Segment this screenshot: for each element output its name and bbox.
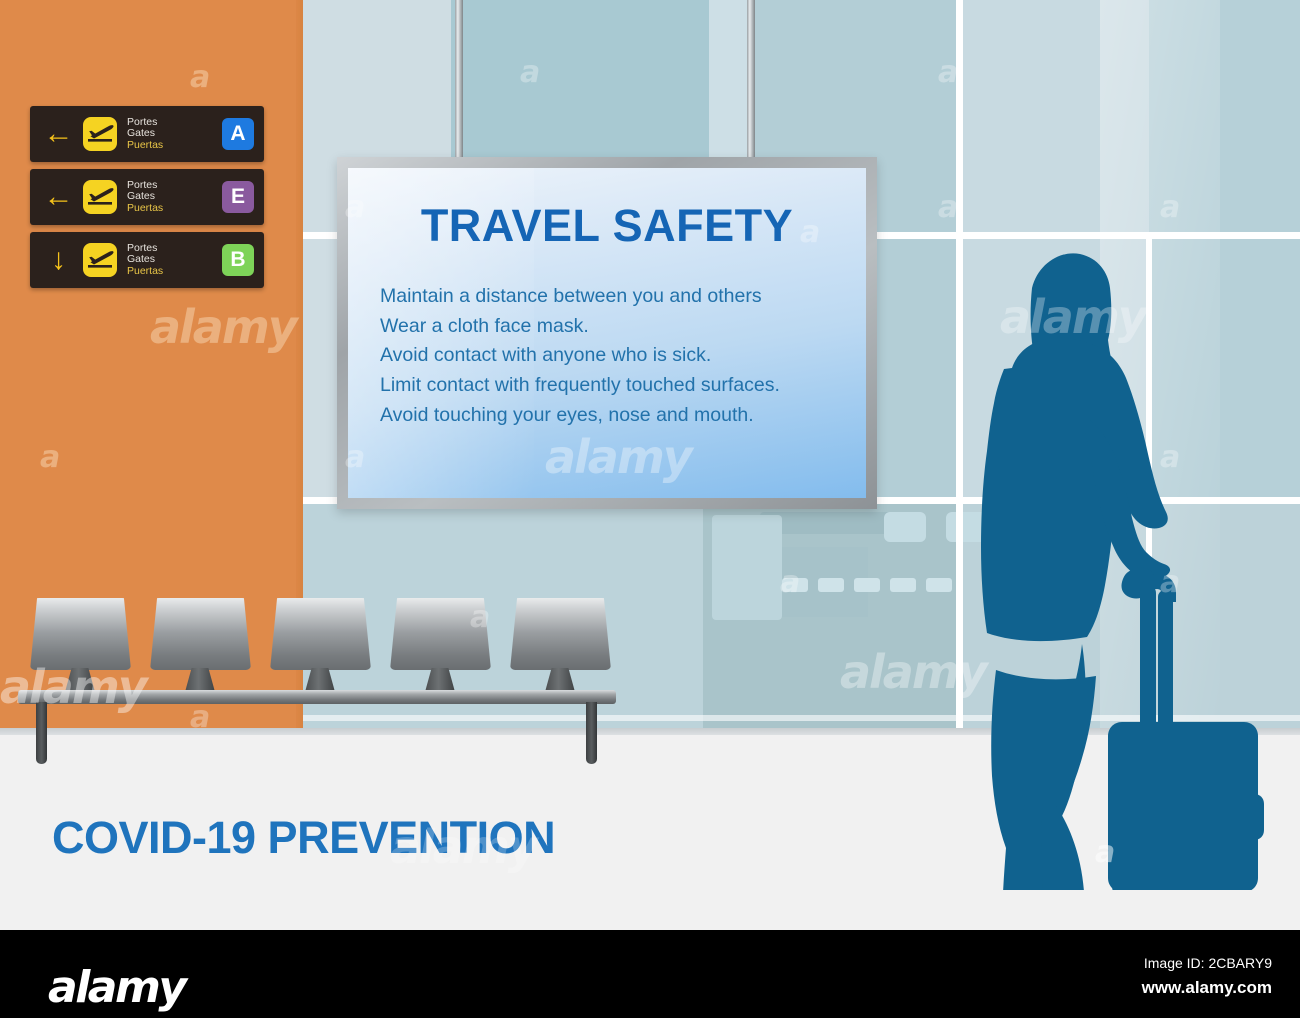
gate-sign-labels: Portes Gates Puertas <box>127 243 222 277</box>
arrow-left-icon: ← <box>36 182 81 212</box>
gate-label-en: Gates <box>127 128 222 139</box>
bench-leg <box>36 702 47 764</box>
gate-label-en: Gates <box>127 254 222 265</box>
aircraft-window-block <box>884 512 926 542</box>
traveler-silhouette <box>940 250 1270 890</box>
illustration-canvas: TRAVEL SAFETY Maintain a distance betwee… <box>0 0 1300 930</box>
sign-guideline: Limit contact with frequently touched su… <box>380 371 866 401</box>
bench-seat-post <box>65 668 95 692</box>
gate-sign-labels: Portes Gates Puertas <box>127 180 222 214</box>
bench-seat-post <box>425 668 455 692</box>
aircraft-window-dash <box>782 578 808 592</box>
sign-title: TRAVEL SAFETY <box>348 200 866 252</box>
sign-face: TRAVEL SAFETY Maintain a distance betwee… <box>348 168 866 498</box>
departing-plane-icon <box>83 180 117 214</box>
gate-sign-row: ← Portes Gates Puertas E <box>30 169 264 225</box>
gate-sign-row: ↓ Portes Gates Puertas B <box>30 232 264 288</box>
gate-badge: E <box>222 181 254 213</box>
sign-hanging-rod <box>455 0 463 160</box>
bench-seat-post <box>305 668 335 692</box>
gate-sign-labels: Portes Gates Puertas <box>127 117 222 151</box>
sign-guideline: Avoid contact with anyone who is sick. <box>380 341 866 371</box>
sign-hanging-rod <box>747 0 755 160</box>
sign-guidelines-list: Maintain a distance between you and othe… <box>380 282 866 430</box>
aircraft-window-dash <box>890 578 916 592</box>
website-url[interactable]: www.alamy.com <box>1142 978 1272 998</box>
gate-badge: B <box>222 244 254 276</box>
bench-seat-post <box>545 668 575 692</box>
gate-direction-signs: ← Portes Gates Puertas A ← Portes Gates … <box>30 106 264 295</box>
bench-seat <box>150 598 251 670</box>
gate-label-es: Puertas <box>127 140 222 151</box>
aircraft-window-dash <box>818 578 844 592</box>
arrow-left-icon: ← <box>36 119 81 149</box>
page-caption: COVID-19 PREVENTION <box>52 812 555 864</box>
image-id-label: Image ID: 2CBARY9 <box>1144 955 1272 971</box>
bench-beam <box>18 690 616 704</box>
alamy-logo: alamy <box>48 962 185 1013</box>
gate-label-es: Puertas <box>127 266 222 277</box>
bench-seat <box>510 598 611 670</box>
aircraft-window-dash <box>854 578 880 592</box>
gate-badge: A <box>222 118 254 150</box>
sign-guideline: Wear a cloth face mask. <box>380 312 866 342</box>
stock-photo-footer <box>0 930 1300 1018</box>
departing-plane-icon <box>83 117 117 151</box>
travel-safety-sign: TRAVEL SAFETY Maintain a distance betwee… <box>337 157 877 509</box>
bench-leg <box>586 702 597 764</box>
tarmac-shape <box>712 515 782 620</box>
departing-plane-icon <box>83 243 117 277</box>
gate-sign-row: ← Portes Gates Puertas A <box>30 106 264 162</box>
bench-seat <box>270 598 371 670</box>
bench-seat <box>390 598 491 670</box>
bench-seat-post <box>185 668 215 692</box>
gate-label-en: Gates <box>127 191 222 202</box>
sign-guideline: Avoid touching your eyes, nose and mouth… <box>380 401 866 431</box>
arrow-down-icon: ↓ <box>36 245 81 275</box>
sign-guideline: Maintain a distance between you and othe… <box>380 282 866 312</box>
gate-label-es: Puertas <box>127 203 222 214</box>
bench-seat <box>30 598 131 670</box>
waiting-bench <box>18 598 628 763</box>
